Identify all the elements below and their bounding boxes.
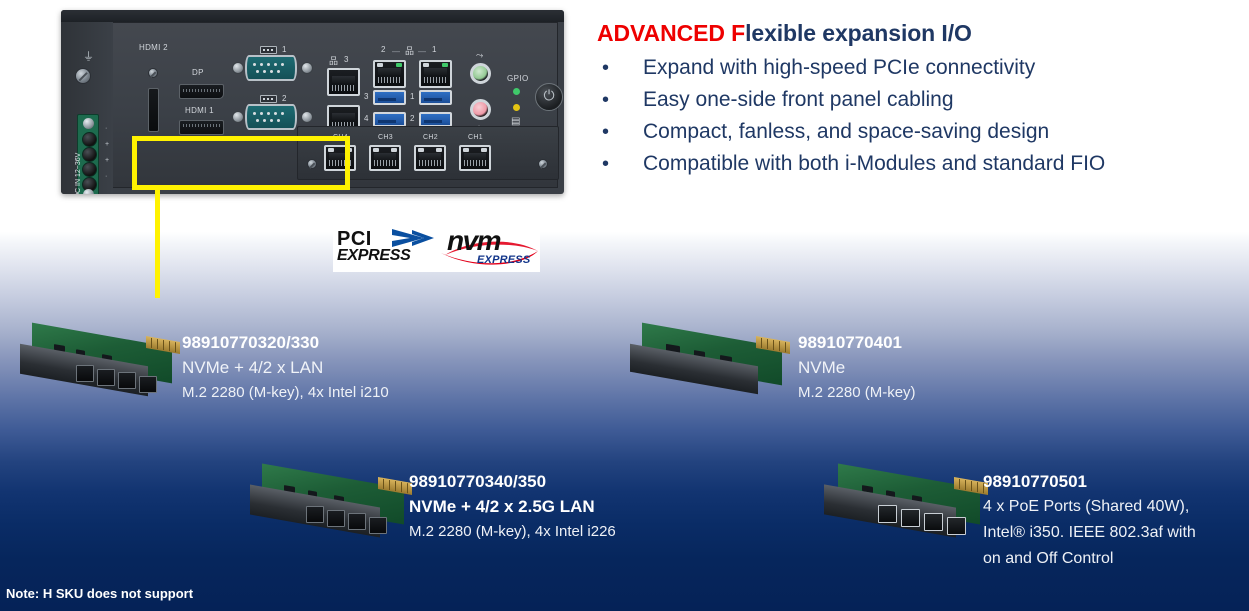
com1-right-ear <box>301 62 313 74</box>
card-caption-1: 98910770320/330 NVMe + 4/2 x LAN M.2 228… <box>182 331 389 405</box>
lan3-port <box>327 68 360 96</box>
com1-port <box>245 55 297 81</box>
com1-icon <box>260 46 277 54</box>
nvme-logo-line2: EXPRESS <box>477 254 530 266</box>
card4-poe-port-2 <box>901 509 920 527</box>
highlight-pointer-line <box>155 190 160 298</box>
footer-note: Note: H SKU does not support <box>6 586 193 601</box>
lan-separator-right: — <box>418 47 426 56</box>
usb3-port <box>373 90 406 105</box>
card-caption-4: 98910770501 4 x PoE Ports (Shared 40W), … <box>983 470 1196 572</box>
bullet-text: Compact, fanless, and space-saving desig… <box>643 119 1049 145</box>
usb4-label: 4 <box>364 114 369 123</box>
dp-label: DP <box>192 68 204 77</box>
bullet-marker-icon: • <box>597 151 643 177</box>
lan-group-icon: 品 <box>405 44 414 57</box>
line-out-jack <box>470 63 491 84</box>
card3-port-1 <box>306 506 324 523</box>
expansion-card-image-1 <box>14 333 180 403</box>
card1-spec: M.2 2280 (M-key), 4x Intel i210 <box>182 381 389 405</box>
hdmi-screw-icon <box>148 68 158 78</box>
ch3-label: CH3 <box>378 134 393 141</box>
dcin-polarity-dot-1: · <box>105 125 108 132</box>
card3-port-3 <box>348 513 366 530</box>
gpio-label: GPIO <box>507 74 529 83</box>
usb2-port <box>419 112 452 127</box>
card1-part-number: 98910770320/330 <box>182 331 389 355</box>
device-top-edge <box>61 10 564 22</box>
dp-port <box>179 84 224 99</box>
bullet-text: Easy one-side front panel cabling <box>643 87 954 113</box>
lan2-port <box>373 60 406 88</box>
list-item: • Compact, fanless, and space-saving des… <box>597 119 1247 145</box>
page-title: ADVANCED Flexible expansion I/O <box>597 20 972 47</box>
list-item: • Easy one-side front panel cabling <box>597 87 1247 113</box>
bullet-text: Compatible with both i-Modules and stand… <box>643 151 1105 177</box>
hdmi1-label: HDMI 1 <box>185 106 214 115</box>
lan-separator-left: — <box>392 47 400 56</box>
com2-label: 2 <box>282 94 287 103</box>
title-rest: lexible expansion I/O <box>745 20 972 46</box>
card3-port-4 <box>369 517 387 534</box>
title-highlight: ADVANCED <box>597 20 725 46</box>
dc-in-label: DC IN 12~36V <box>75 153 82 194</box>
card1-port-2 <box>97 369 115 386</box>
expansion-card-image-4 <box>818 474 990 544</box>
feature-bullet-list: • Expand with high-speed PCIe connectivi… <box>597 55 1247 183</box>
ch1-port <box>459 145 491 171</box>
usb2-label: 2 <box>410 114 415 123</box>
nvme-logo-line1: nvm <box>447 227 500 255</box>
dcin-polarity-dot-2: · <box>105 173 108 180</box>
pcie-arrow-icon <box>390 227 442 249</box>
usb4-port <box>373 112 406 127</box>
card4-desc-line2: Intel® i350. IEEE 802.3af with <box>983 520 1196 546</box>
usb1-label: 1 <box>410 92 415 101</box>
logo-strip: PCI EXPRESS nvm EXPRESS <box>333 225 540 272</box>
card4-part-number: 98910770501 <box>983 470 1196 494</box>
usb3-label: 3 <box>364 92 369 101</box>
lan3-icon: 品 <box>329 54 338 67</box>
card4-poe-port-3 <box>924 513 943 531</box>
card4-poe-port-1 <box>878 505 897 523</box>
dcin-polarity-plus-2: + <box>105 157 109 164</box>
highlight-box-lan-module <box>132 136 350 190</box>
lan2-label: 2 <box>381 45 386 54</box>
chassis-screw-icon <box>75 68 91 84</box>
module-screw-right <box>538 159 548 169</box>
card3-spec: M.2 2280 (M-key), 4x Intel i226 <box>409 520 616 544</box>
com1-label: 1 <box>282 45 287 54</box>
nvm-express-logo: nvm EXPRESS <box>439 225 540 272</box>
line-out-icon: ⤳ <box>476 50 484 61</box>
card1-name: NVMe + 4/2 x LAN <box>182 355 389 381</box>
bullet-marker-icon: • <box>597 119 643 145</box>
bullet-marker-icon: • <box>597 55 643 81</box>
pci-express-logo: PCI EXPRESS <box>337 228 445 269</box>
com2-right-ear <box>301 111 313 123</box>
card4-desc-line1: 4 x PoE Ports (Shared 40W), <box>983 494 1196 520</box>
list-item: • Compatible with both i-Modules and sta… <box>597 151 1247 177</box>
title-first-letter: F <box>731 20 745 46</box>
card-caption-2: 98910770401 NVMe M.2 2280 (M-key) <box>798 331 916 405</box>
ch2-port <box>414 145 446 171</box>
power-led-icon <box>513 88 520 95</box>
hdmi1-port <box>179 120 224 135</box>
power-button[interactable] <box>535 83 563 111</box>
ground-symbol-icon: ⏚ <box>83 48 94 64</box>
hdmi2-label: HDMI 2 <box>139 43 168 52</box>
mic-in-jack <box>470 99 491 120</box>
ch1-label: CH1 <box>468 134 483 141</box>
card3-port-2 <box>327 510 345 527</box>
lan3-label: 3 <box>344 55 349 64</box>
com2-icon <box>260 95 277 103</box>
dcin-polarity-plus-1: + <box>105 141 109 148</box>
expansion-card-image-2 <box>624 333 790 395</box>
expansion-card-image-3 <box>244 474 414 544</box>
com1-left-ear <box>232 62 244 74</box>
card3-name: NVMe + 4/2 x 2.5G LAN <box>409 494 616 520</box>
card2-part-number: 98910770401 <box>798 331 916 355</box>
card4-desc-line3: on and Off Control <box>983 546 1196 572</box>
com2-port <box>245 104 297 130</box>
card2-spec: M.2 2280 (M-key) <box>798 381 916 405</box>
ch3-port <box>369 145 401 171</box>
card1-port-1 <box>76 365 94 382</box>
slide-root: ⏚ DC IN 12~36V · + + · HDMI 2 DP HDMI 1 … <box>0 0 1249 611</box>
ch2-label: CH2 <box>423 134 438 141</box>
bullet-marker-icon: • <box>597 87 643 113</box>
card3-part-number: 98910770340/350 <box>409 470 616 494</box>
lan1-label: 1 <box>432 45 437 54</box>
hdmi2-port <box>148 88 159 132</box>
bullet-text: Expand with high-speed PCIe connectivity <box>643 55 1035 81</box>
list-item: • Expand with high-speed PCIe connectivi… <box>597 55 1247 81</box>
pcie-logo-line2: EXPRESS <box>337 247 411 265</box>
card2-name: NVMe <box>798 355 916 381</box>
card4-poe-port-4 <box>947 517 966 535</box>
card1-port-4 <box>139 376 157 393</box>
status-led-icon <box>513 104 520 111</box>
lan1-port <box>419 60 452 88</box>
usb1-port <box>419 90 452 105</box>
card1-port-3 <box>118 372 136 389</box>
card-caption-3: 98910770340/350 NVMe + 4/2 x 2.5G LAN M.… <box>409 470 616 544</box>
com2-left-ear <box>232 111 244 123</box>
